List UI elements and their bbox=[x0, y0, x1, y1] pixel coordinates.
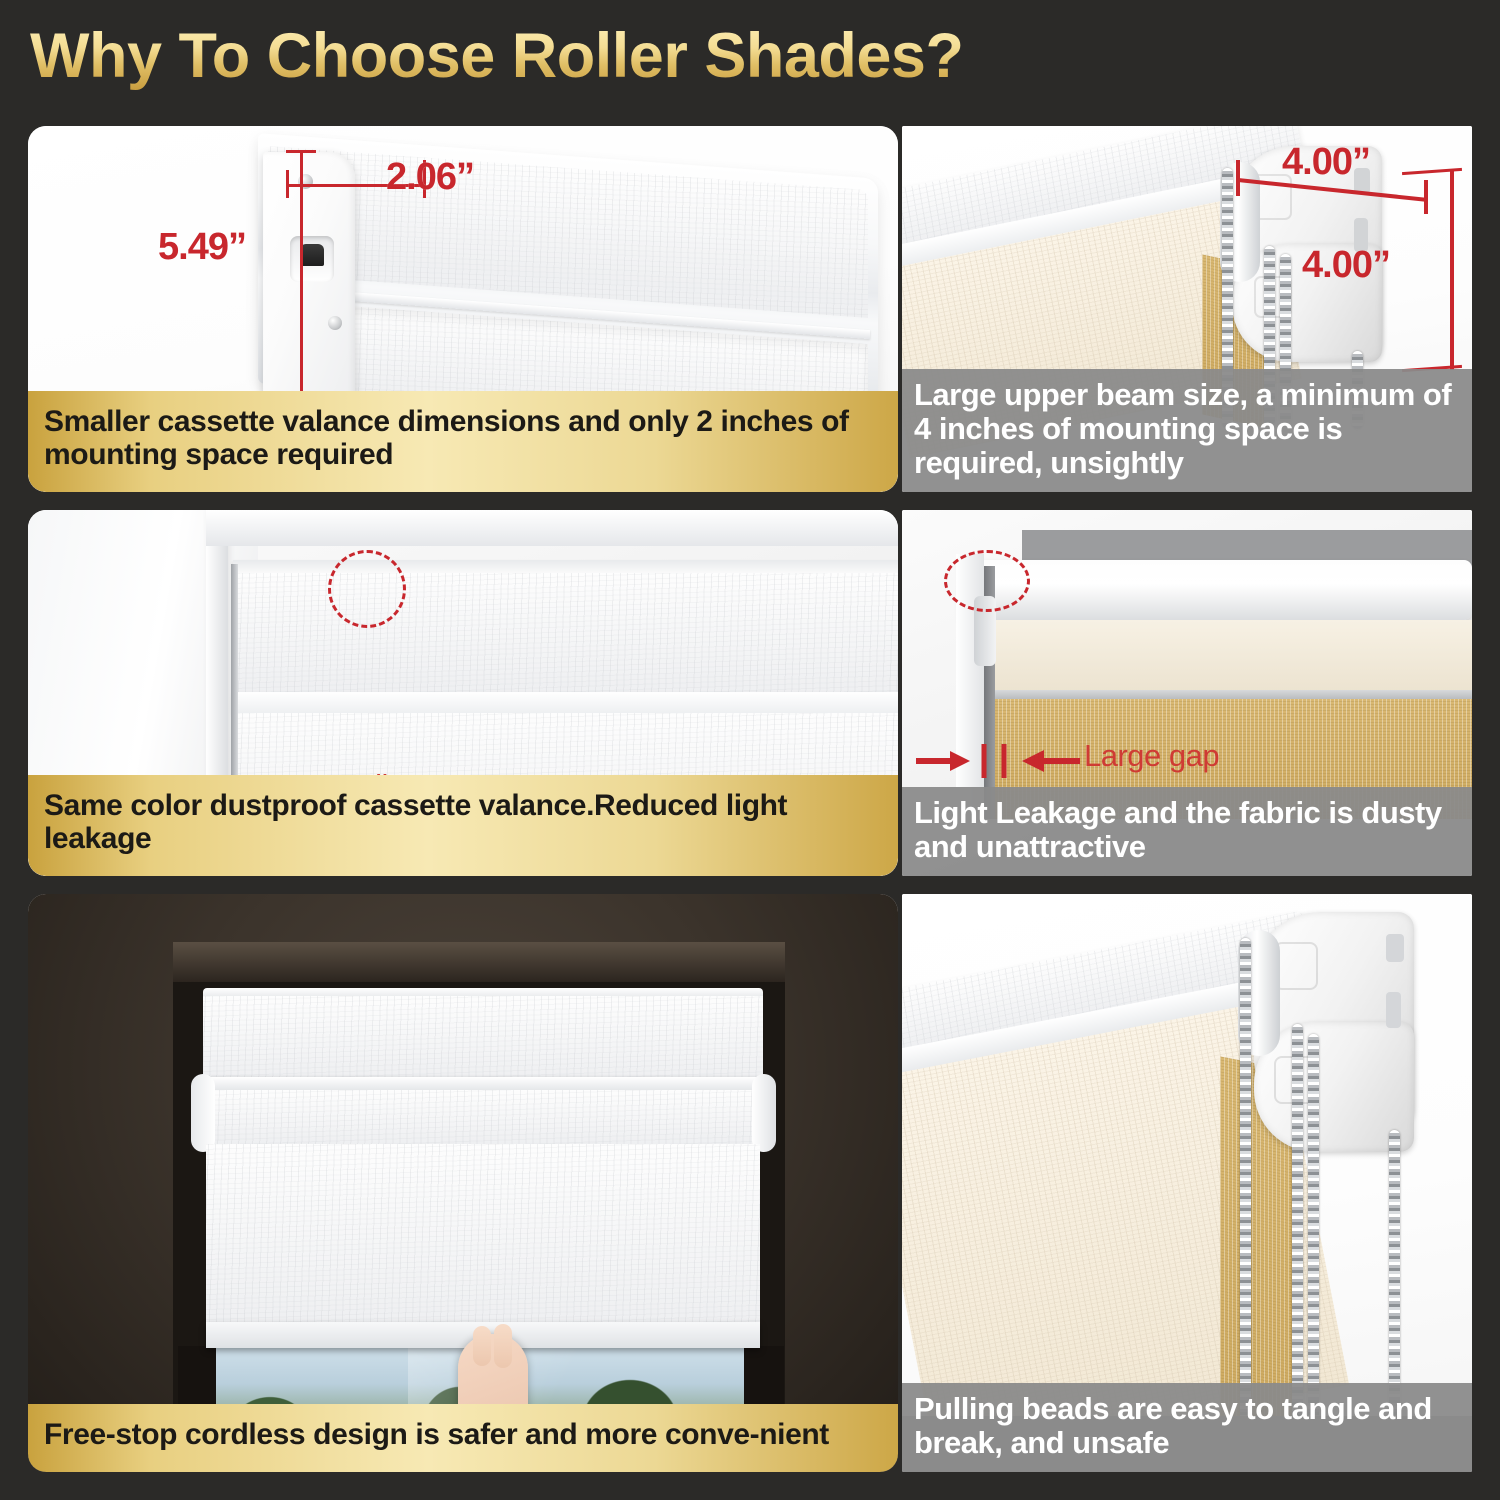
highlight-circle-gap bbox=[328, 550, 406, 628]
dimension-label-beam-width: 4.00” bbox=[1282, 141, 1370, 184]
caption-pro-cordless-design: Free-stop cordless design is safer and m… bbox=[28, 1404, 898, 1472]
caption-con-pulling-beads: Pulling beads are easy to tangle and bre… bbox=[902, 1383, 1472, 1472]
panel-con-pulling-beads: Pulling beads are easy to tangle and bre… bbox=[902, 894, 1472, 1472]
panel-con-beam-size: 4.00” 4.00” Large upper beam size, a min… bbox=[902, 126, 1472, 492]
gap-label-large: Large gap bbox=[1084, 738, 1219, 774]
panel-pro-cordless-design: Free-stop cordless design is safer and m… bbox=[28, 894, 898, 1472]
highlight-circle-gap bbox=[944, 550, 1030, 612]
dimension-label-width: 2.06” bbox=[386, 156, 474, 199]
caption-pro-dustproof-valance: Same color dustproof cassette valance.Re… bbox=[28, 775, 898, 876]
panel-con-light-leakage: Large gap Light Leakage and the fabric i… bbox=[902, 510, 1472, 876]
dimension-tick-top bbox=[286, 150, 316, 153]
caption-con-light-leakage: Light Leakage and the fabric is dusty an… bbox=[902, 787, 1472, 876]
page-title: Why To Choose Roller Shades? bbox=[30, 20, 963, 92]
dimension-tick-beam-right bbox=[1424, 180, 1428, 214]
dimension-line-beam-height bbox=[1450, 170, 1454, 370]
dimension-tick-left bbox=[286, 170, 289, 198]
product-photo-cordless-window bbox=[28, 894, 898, 1472]
panel-pro-cassette-size: 2.06” 5.49” Smaller cassette valance dim… bbox=[28, 126, 898, 492]
dimension-label-beam-height: 4.00” bbox=[1302, 244, 1390, 287]
caption-pro-cassette-size: Smaller cassette valance dimensions and … bbox=[28, 391, 898, 492]
page-header: Why To Choose Roller Shades? bbox=[0, 0, 1500, 112]
caption-con-beam-size: Large upper beam size, a minimum of 4 in… bbox=[902, 369, 1472, 492]
dimension-label-height: 5.49” bbox=[158, 226, 246, 269]
panel-pro-dustproof-valance: smaller gap Same color dustproof cassett… bbox=[28, 510, 898, 876]
bead-chain bbox=[1240, 938, 1251, 1448]
dimension-tick-beam-left bbox=[1236, 160, 1240, 196]
